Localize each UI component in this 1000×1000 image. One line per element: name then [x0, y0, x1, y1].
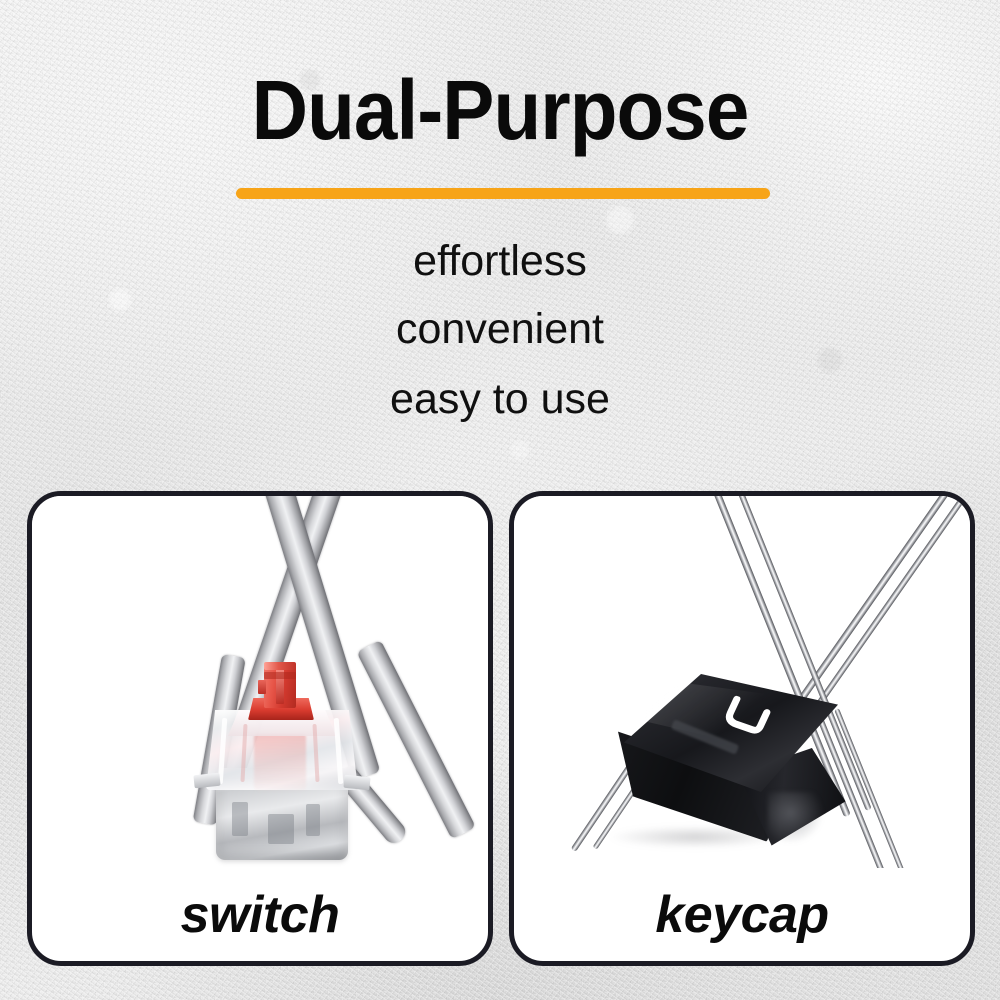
- benefit-line-2: convenient: [0, 308, 1000, 351]
- switch-stem-notch: [258, 680, 266, 694]
- switch-stem-top: [264, 662, 296, 670]
- switch-mount-clip: [193, 773, 220, 789]
- mechanical-switch: [202, 664, 362, 864]
- switch-mount-clip: [343, 775, 370, 791]
- switch-base-slot: [232, 802, 248, 836]
- benefit-line-3: easy to use: [0, 378, 1000, 421]
- card-label-switch: switch: [32, 887, 488, 943]
- switch-stem-cross: [264, 672, 296, 679]
- title-divider-rule: [236, 188, 770, 199]
- card-label-keycap: keycap: [514, 887, 970, 943]
- keycap-photo: [514, 496, 970, 868]
- black-keycap: [618, 674, 848, 864]
- switch-photo: [32, 496, 488, 868]
- switch-inner-glow: [254, 734, 306, 790]
- keycap-scuff: [768, 792, 824, 844]
- benefit-line-1: effortless: [0, 240, 1000, 283]
- switch-base-slot: [306, 804, 320, 836]
- product-poster: Dual-Purpose effortless convenient easy …: [0, 0, 1000, 1000]
- product-card-keycap[interactable]: keycap: [509, 491, 975, 966]
- product-card-switch[interactable]: switch: [27, 491, 493, 966]
- page-title: Dual-Purpose: [35, 68, 965, 152]
- switch-base-slot: [268, 814, 294, 844]
